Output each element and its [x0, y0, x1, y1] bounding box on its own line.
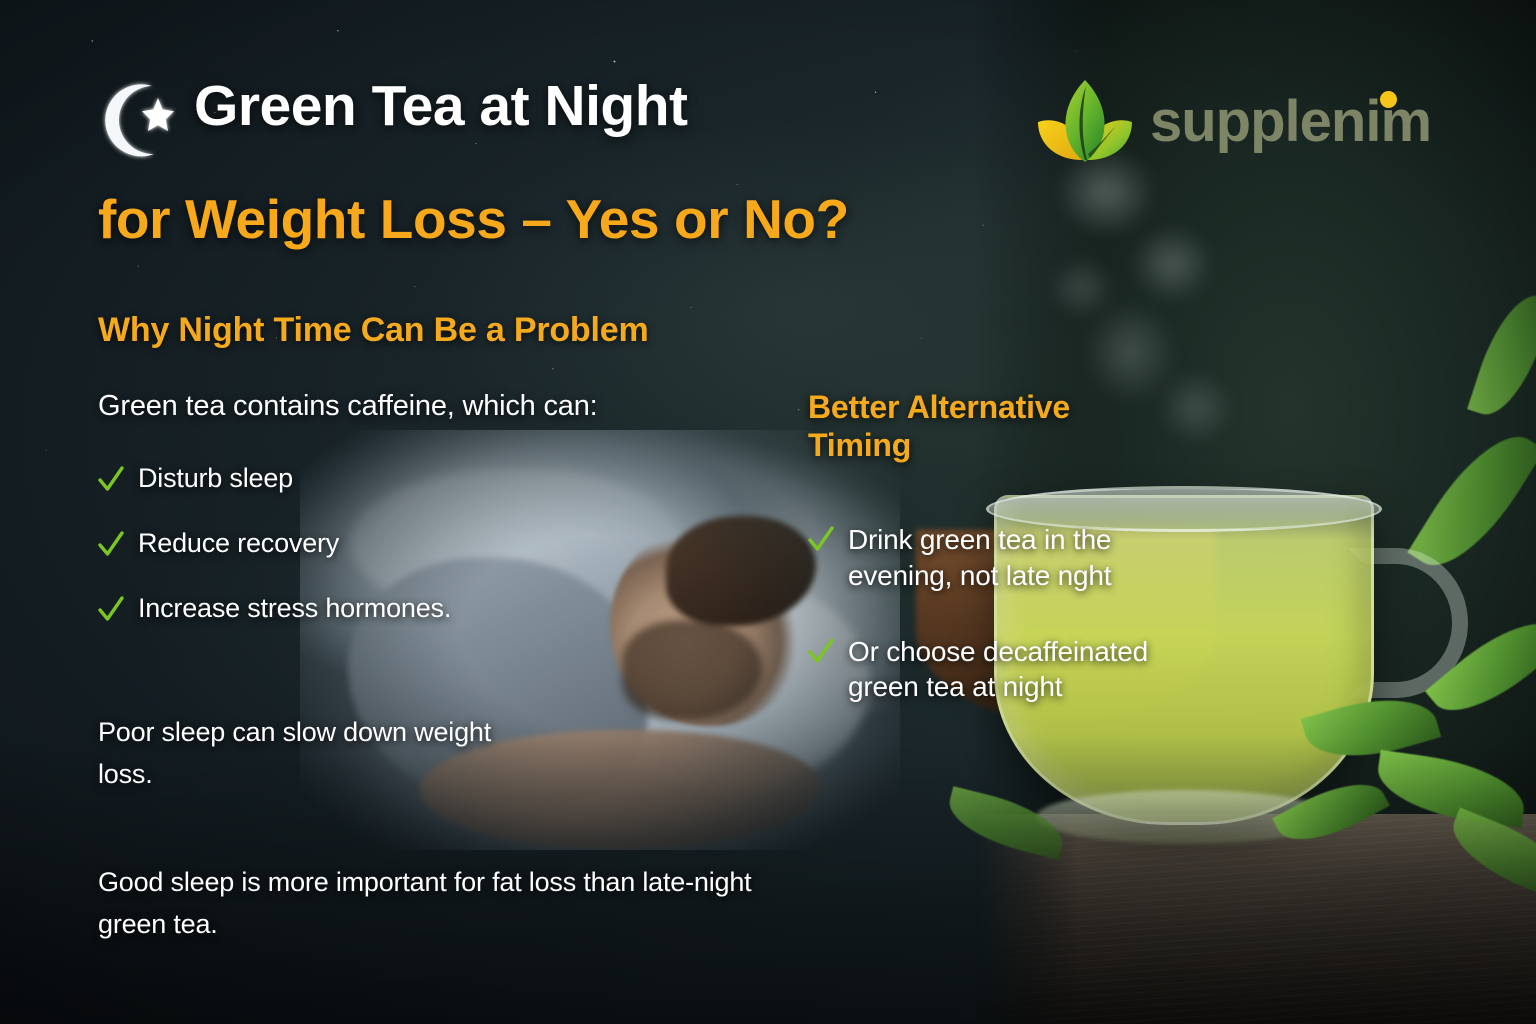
- right-section-heading: Better Alternative Timing: [808, 388, 1168, 465]
- logo-i-dot: [1380, 91, 1397, 108]
- left-paragraph-2: Good sleep is more important for fat los…: [98, 862, 778, 946]
- check-icon: [808, 525, 834, 555]
- list-item: Reduce recovery: [98, 527, 718, 560]
- leaf-trio-icon: [1036, 74, 1136, 170]
- list-item-label: Disturb sleep: [138, 462, 293, 495]
- left-bullet-list: Disturb sleep Reduce recovery Increase s…: [98, 462, 718, 657]
- list-item: Drink green tea in the evening, not late…: [808, 522, 1178, 594]
- list-item-label: Drink green tea in the evening, not late…: [848, 522, 1178, 594]
- right-bullet-list: Drink green tea in the evening, not late…: [808, 522, 1178, 745]
- left-section-heading: Why Night Time Can Be a Problem: [98, 311, 648, 350]
- list-item: Or choose decaffeinated green tea at nig…: [808, 634, 1178, 706]
- infographic-canvas: Green Tea at Night for Weight Loss – Yes…: [0, 0, 1536, 1024]
- crescent-moon-star-icon: [96, 78, 176, 162]
- brand-wordmark: supplenim: [1150, 93, 1431, 151]
- list-item-label: Increase stress hormones.: [138, 592, 451, 625]
- brand-logo[interactable]: supplenim: [1036, 74, 1431, 170]
- check-icon: [98, 530, 124, 560]
- list-item: Disturb sleep: [98, 462, 718, 495]
- check-icon: [98, 465, 124, 495]
- list-item-label: Or choose decaffeinated green tea at nig…: [848, 634, 1178, 706]
- content-layer: Green Tea at Night for Weight Loss – Yes…: [0, 0, 1536, 1024]
- check-icon: [98, 595, 124, 625]
- check-icon: [808, 637, 834, 667]
- list-item: Increase stress hormones.: [98, 592, 718, 625]
- page-subtitle: for Weight Loss – Yes or No?: [98, 190, 849, 248]
- list-item-label: Reduce recovery: [138, 527, 339, 560]
- left-lead-text: Green tea contains caffeine, which can:: [98, 390, 597, 423]
- page-title: Green Tea at Night: [194, 76, 688, 136]
- left-paragraph-1: Poor sleep can slow down weight loss.: [98, 712, 528, 796]
- header: Green Tea at Night: [96, 76, 688, 162]
